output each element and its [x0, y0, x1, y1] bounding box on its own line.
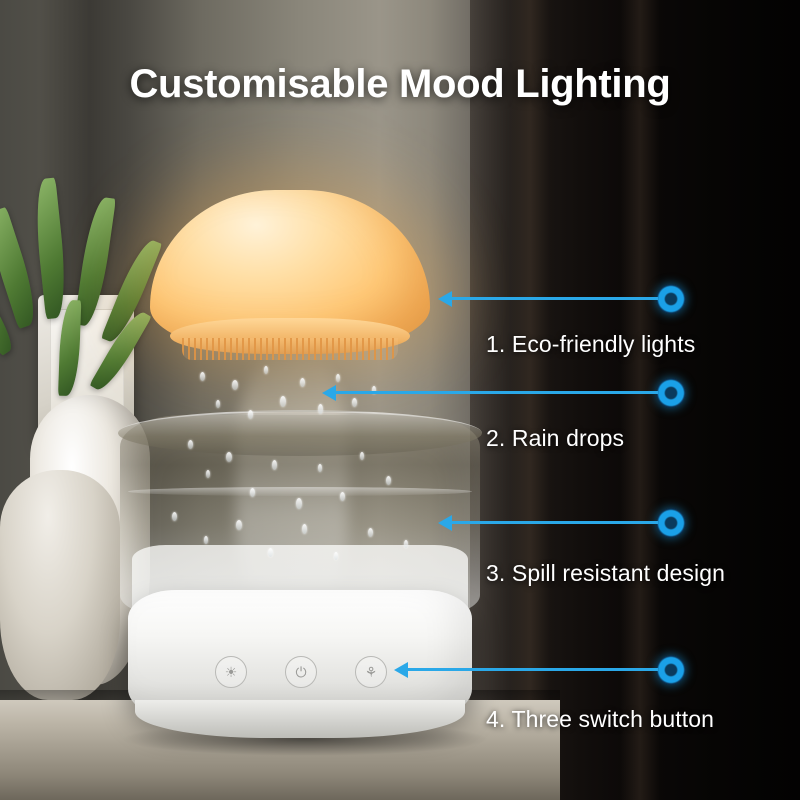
callout-line-2: [336, 391, 658, 394]
callout-label-3: 3. Spill resistant design: [486, 560, 725, 587]
product-infographic: ☀ ⏻ ⚘ Customisable Mood Lighting 1. Eco-…: [0, 0, 800, 800]
callout-dot-3[interactable]: [656, 508, 686, 538]
callout-dot-2[interactable]: [656, 378, 686, 408]
callout-line-4: [408, 668, 658, 671]
tank-highlight-band: [128, 487, 472, 496]
callout-dot-4[interactable]: [656, 655, 686, 685]
light-button[interactable]: ☀: [215, 656, 247, 688]
curtain-fold: [620, 0, 660, 800]
tank-rim: [118, 410, 482, 456]
rain-nozzle-teeth: [182, 338, 398, 360]
callout-arrow-3: [438, 515, 452, 531]
callout-label-4: 4. Three switch button: [486, 706, 714, 733]
curtain-fold: [510, 0, 550, 800]
callout-arrow-4: [394, 662, 408, 678]
light-icon: ☀: [225, 664, 238, 681]
callout-arrow-1: [438, 291, 452, 307]
power-icon: ⏻: [295, 664, 306, 681]
callout-label-2: 2. Rain drops: [486, 425, 624, 452]
mist-button[interactable]: ⚘: [355, 656, 387, 688]
plant-pot-secondary: [0, 470, 120, 700]
power-button[interactable]: ⏻: [285, 656, 317, 688]
mist-icon: ⚘: [365, 664, 378, 681]
callout-line-3: [452, 521, 658, 524]
callout-label-1: 1. Eco-friendly lights: [486, 331, 695, 358]
callout-arrow-2: [322, 385, 336, 401]
callout-dot-1[interactable]: [656, 284, 686, 314]
device-control-buttons[interactable]: ☀ ⏻ ⚘: [215, 655, 387, 689]
page-title: Customisable Mood Lighting: [0, 62, 800, 107]
callout-line-1: [452, 297, 658, 300]
